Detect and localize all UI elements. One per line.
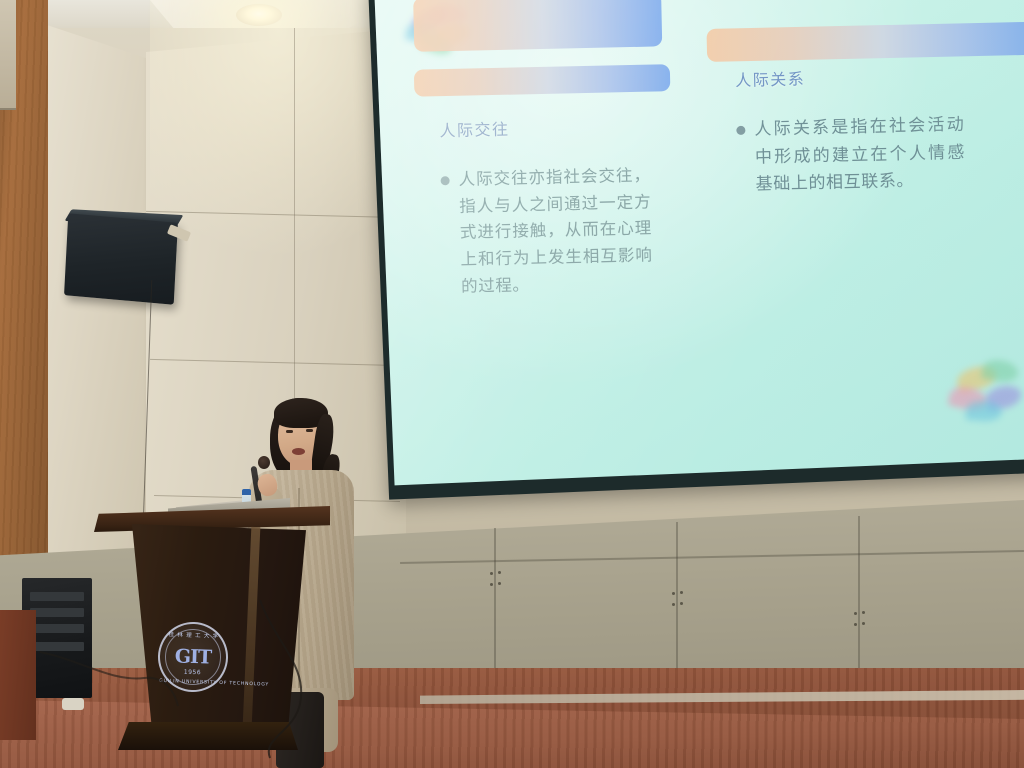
- floor-cable: [250, 600, 340, 760]
- flower-decoration-icon: [942, 355, 1024, 437]
- pillar-trim: [0, 0, 16, 110]
- water-bottle-cap: [242, 489, 251, 495]
- wooden-cabinet: [0, 610, 36, 740]
- bullet-dot-icon: [441, 176, 450, 185]
- floor-cable: [40, 636, 180, 736]
- ceiling-light-icon: [236, 4, 282, 26]
- accent-bar: [706, 22, 1024, 62]
- slide-content: 什么是人际? 人际交往 人际交往亦指社会交往，指人与人之间通过一定方式进行接触，…: [374, 0, 1024, 485]
- bullet-text: 人际交往亦指社会交往，指人与人之间通过一定方式进行接触，从而在心理上和行为上发生…: [458, 162, 653, 300]
- microphone-icon: [258, 456, 270, 469]
- emblem-mark: GIT: [174, 645, 211, 668]
- bullet-item: 人际交往亦指社会交往，指人与人之间通过一定方式进行接触，从而在心理上和行为上发生…: [440, 162, 653, 301]
- stone-pillar: [38, 22, 146, 622]
- eye: [286, 430, 293, 433]
- column-heading: 人际交往: [439, 112, 650, 141]
- emblem-year: 1956: [184, 669, 202, 677]
- projection-screen: 什么是人际? 人际交往 人际交往亦指社会交往，指人与人之间通过一定方式进行接触，…: [368, 0, 1024, 500]
- mouth: [292, 448, 305, 455]
- column-heading: 人际关系: [735, 62, 964, 91]
- accent-bar: [414, 64, 671, 97]
- eye: [306, 429, 313, 432]
- lecture-hall-photo: 什么是人际? 人际交往 人际交往亦指社会交往，指人与人之间通过一定方式进行接触，…: [0, 0, 1024, 768]
- slide-column-right: 人际关系 人际关系是指在社会活动中形成的建立在个人情感基础上的相互联系。: [735, 62, 966, 200]
- bullet-text: 人际关系是指在社会活动中形成的建立在个人情感基础上的相互联系。: [754, 112, 966, 200]
- slide-column-left: 人际交往 人际交往亦指社会交往，指人与人之间通过一定方式进行接触，从而在心理上和…: [439, 112, 653, 300]
- bullet-dot-icon: [736, 126, 745, 135]
- bullet-item: 人际关系是指在社会活动中形成的建立在个人情感基础上的相互联系。: [736, 112, 966, 200]
- accent-bar: [413, 0, 662, 52]
- wall-speaker: [64, 213, 178, 304]
